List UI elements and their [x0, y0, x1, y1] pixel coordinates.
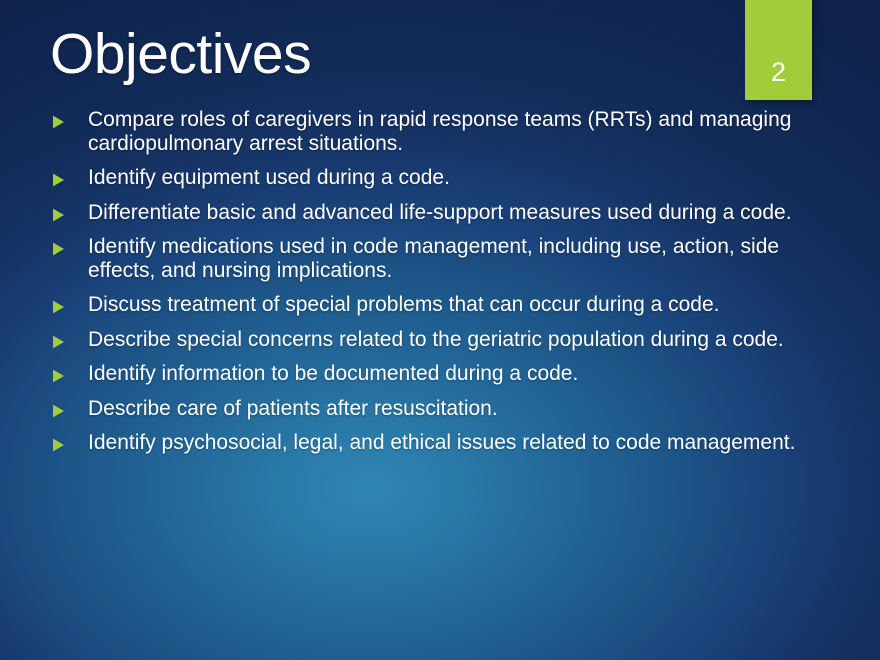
slide-number-label: 2 [745, 59, 812, 86]
triangle-right-icon [52, 404, 70, 418]
triangle-right-icon [52, 173, 70, 187]
list-item: Identify information to be documented du… [52, 362, 842, 386]
list-item-label: Compare roles of caregivers in rapid res… [88, 108, 842, 155]
triangle-right-icon [52, 242, 70, 256]
list-item: Identify psychosocial, legal, and ethica… [52, 431, 842, 455]
presentation-slide: Objectives 2 Compare roles of caregivers… [0, 0, 880, 660]
list-item: Identify medications used in code manage… [52, 235, 842, 282]
triangle-right-icon [52, 369, 70, 383]
page-title: Objectives [50, 22, 710, 86]
list-item-label: Identify equipment used during a code. [88, 166, 842, 190]
list-item-label: Identify information to be documented du… [88, 362, 842, 386]
list-item: Describe care of patients after resuscit… [52, 397, 842, 421]
list-item: Compare roles of caregivers in rapid res… [52, 108, 842, 155]
list-item-label: Describe special concerns related to the… [88, 328, 842, 352]
triangle-right-icon [52, 208, 70, 222]
list-item: Identify equipment used during a code. [52, 166, 842, 190]
list-item-label: Identify medications used in code manage… [88, 235, 842, 282]
triangle-right-icon [52, 438, 70, 452]
triangle-right-icon [52, 300, 70, 314]
list-item-label: Identify psychosocial, legal, and ethica… [88, 431, 842, 455]
triangle-right-icon [52, 335, 70, 349]
list-item: Discuss treatment of special problems th… [52, 293, 842, 317]
list-item-label: Discuss treatment of special problems th… [88, 293, 842, 317]
list-item-label: Differentiate basic and advanced life-su… [88, 201, 842, 225]
slide-number-badge: 2 [745, 0, 812, 100]
list-item: Differentiate basic and advanced life-su… [52, 201, 842, 225]
triangle-right-icon [52, 115, 70, 129]
objectives-list: Compare roles of caregivers in rapid res… [52, 108, 842, 466]
list-item: Describe special concerns related to the… [52, 328, 842, 352]
list-item-label: Describe care of patients after resuscit… [88, 397, 842, 421]
